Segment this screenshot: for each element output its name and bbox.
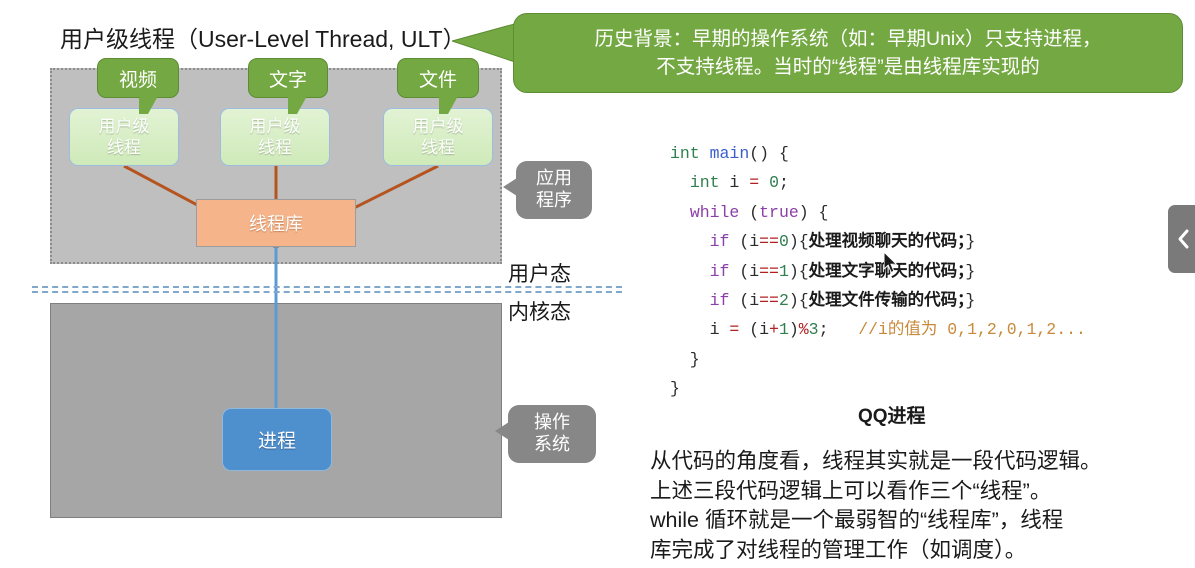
code-token: ; xyxy=(819,320,859,339)
code-token: + xyxy=(769,320,779,339)
ult-box-line2: 线程 xyxy=(421,137,455,158)
code-token: = xyxy=(749,173,759,192)
code-line: int main() { xyxy=(670,139,1086,168)
ult-box-line2: 线程 xyxy=(107,137,141,158)
code-token: 3 xyxy=(809,320,819,339)
code-token: } xyxy=(965,262,975,281)
code-token: ) { xyxy=(799,203,829,222)
code-token: } xyxy=(670,350,700,369)
code-token: while xyxy=(690,203,740,222)
thread-label-bubble-video: 视频 xyxy=(97,58,179,98)
thread-label-bubble-text: 文字 xyxy=(248,58,328,98)
kernel-mode-label: 内核态 xyxy=(508,296,571,326)
code-token: i xyxy=(670,320,729,339)
code-token: (i xyxy=(739,320,769,339)
code-line: if (i==1){处理文字聊天的代码；} xyxy=(670,257,1086,286)
code-token xyxy=(670,291,710,310)
collapse-panel-tab[interactable] xyxy=(1168,205,1195,273)
code-token: ){ xyxy=(789,262,809,281)
code-token: ) xyxy=(789,320,799,339)
code-token: } xyxy=(965,291,975,310)
slide-canvas: 用户级线程（User-Level Thread, ULT） 用户级 线程 用户级… xyxy=(0,0,1195,568)
code-token: (i xyxy=(729,291,759,310)
thread-library-label: 线程库 xyxy=(249,210,303,236)
code-line: while (true) { xyxy=(670,198,1086,227)
code-token xyxy=(759,173,769,192)
chevron-left-icon xyxy=(1177,228,1191,250)
code-token: main xyxy=(710,144,750,163)
code-token: 处理视频聊天的代码； xyxy=(809,232,966,250)
code-line: int i = 0; xyxy=(670,168,1086,197)
application-callout-line1: 应用 xyxy=(536,168,572,190)
code-token: 1 xyxy=(779,262,789,281)
code-token: } xyxy=(670,379,680,398)
code-token: 处理文字聊天的代码； xyxy=(809,262,966,280)
code-line: if (i==0){处理视频聊天的代码；} xyxy=(670,227,1086,256)
code-line: i = (i+1)%3; //i的值为 0,1,2,0,1,2... xyxy=(670,315,1086,344)
bubble-label: 视频 xyxy=(119,65,157,92)
user-level-thread-box-3: 用户级 线程 xyxy=(383,108,493,166)
code-token xyxy=(670,262,710,281)
operating-system-callout: 操作 系统 xyxy=(508,405,596,463)
code-token: } xyxy=(965,232,975,251)
bubble-label: 文字 xyxy=(269,65,307,92)
thread-library-box: 线程库 xyxy=(196,199,356,247)
code-token: == xyxy=(759,232,779,251)
code-token xyxy=(670,232,710,251)
history-note-line2: 不支持线程。当时的“线程”是由线程库实现的 xyxy=(656,53,1040,81)
code-token: if xyxy=(710,291,730,310)
code-token: % xyxy=(799,320,809,339)
code-line: if (i==2){处理文件传输的代码；} xyxy=(670,286,1086,315)
code-token: (i xyxy=(729,262,759,281)
ult-box-line1: 用户级 xyxy=(99,116,150,137)
ult-box-line2: 线程 xyxy=(258,137,292,158)
code-token: 1 xyxy=(779,320,789,339)
user-level-thread-box-2: 用户级 线程 xyxy=(220,108,330,166)
code-token: if xyxy=(710,262,730,281)
code-token: true xyxy=(759,203,799,222)
bubble-label: 文件 xyxy=(419,65,457,92)
code-token: 处理文件传输的代码； xyxy=(809,291,966,309)
application-callout: 应用 程序 xyxy=(516,161,592,219)
code-token xyxy=(670,203,690,222)
process-label: 进程 xyxy=(258,426,296,453)
user-mode-label: 用户态 xyxy=(508,258,571,288)
code-token: ){ xyxy=(789,291,809,310)
user-level-thread-box-1: 用户级 线程 xyxy=(69,108,179,166)
explanation-note-line: while 循环就是一个最弱智的“线程库”，线程 xyxy=(650,506,1102,536)
explanation-note: 从代码的角度看，线程其实就是一段代码逻辑。上述三段代码逻辑上可以看作三个“线程”… xyxy=(650,447,1102,565)
thread-label-bubble-file: 文件 xyxy=(397,58,479,98)
code-token: (i xyxy=(729,232,759,251)
os-callout-line2: 系统 xyxy=(534,434,570,456)
code-token: 0 xyxy=(769,173,779,192)
ult-box-line1: 用户级 xyxy=(250,116,301,137)
code-token: i xyxy=(720,173,750,192)
code-token xyxy=(670,173,690,192)
code-token: 0 xyxy=(779,232,789,251)
code-token: = xyxy=(729,320,739,339)
code-token: ){ xyxy=(789,232,809,251)
green-callout-tail xyxy=(452,23,518,63)
code-token: == xyxy=(759,262,779,281)
process-box: 进程 xyxy=(222,408,332,471)
code-token: //i的值为 0,1,2,0,1,2... xyxy=(858,320,1086,339)
code-token: () { xyxy=(749,144,789,163)
code-token: ( xyxy=(739,203,759,222)
code-token: ; xyxy=(779,173,789,192)
qq-process-caption: QQ进程 xyxy=(858,401,926,428)
history-note-line1: 历史背景：早期的操作系统（如：早期Unix）只支持进程， xyxy=(594,25,1101,53)
explanation-note-line: 从代码的角度看，线程其实就是一段代码逻辑。 xyxy=(650,447,1102,477)
code-line: } xyxy=(670,374,1086,403)
code-listing: int main() { int i = 0; while (true) { i… xyxy=(670,139,1086,404)
code-line: } xyxy=(670,345,1086,374)
ult-box-line1: 用户级 xyxy=(413,116,464,137)
explanation-note-line: 上述三段代码逻辑上可以看作三个“线程”。 xyxy=(650,477,1102,507)
code-token: == xyxy=(759,291,779,310)
code-token: int xyxy=(690,173,720,192)
history-note-callout: 历史背景：早期的操作系统（如：早期Unix）只支持进程， 不支持线程。当时的“线… xyxy=(513,13,1183,93)
explanation-note-line: 库完成了对线程的管理工作（如调度）。 xyxy=(650,536,1102,566)
application-callout-line2: 程序 xyxy=(536,190,572,212)
code-token: if xyxy=(710,232,730,251)
code-token: int xyxy=(670,144,700,163)
page-title: 用户级线程（User-Level Thread, ULT） xyxy=(60,20,466,54)
os-callout-line1: 操作 xyxy=(534,412,570,434)
code-token xyxy=(700,144,710,163)
code-token: 2 xyxy=(779,291,789,310)
